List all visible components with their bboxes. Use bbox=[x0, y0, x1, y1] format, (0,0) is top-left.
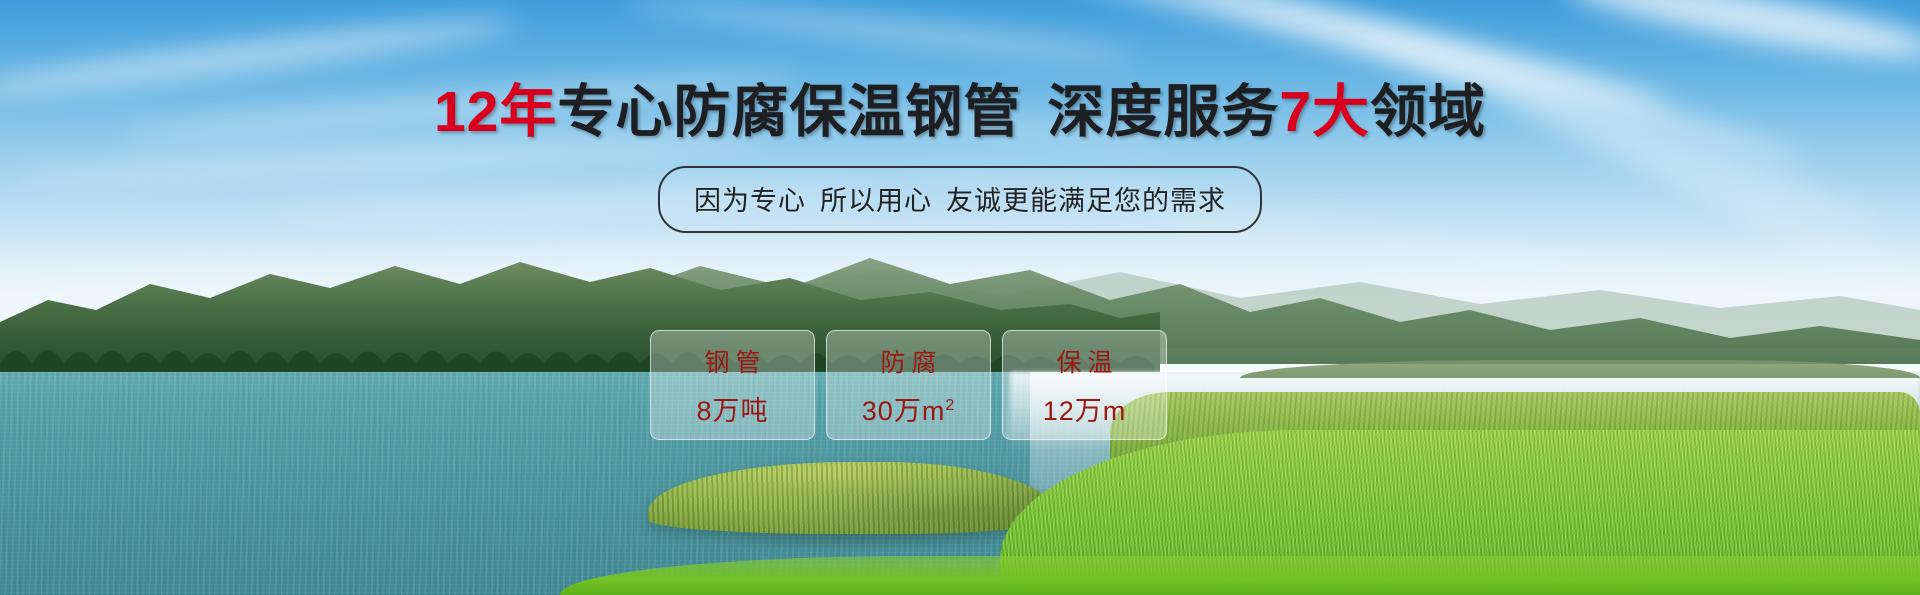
stat-card[interactable]: 保温 12万m bbox=[1002, 330, 1167, 440]
bottom-grass-strip bbox=[560, 556, 1920, 595]
stat-card-value: 8万吨 bbox=[696, 389, 768, 428]
stat-card[interactable]: 防腐 30万m2 bbox=[826, 330, 991, 440]
stat-card-label: 防腐 bbox=[874, 343, 942, 379]
cloud-wisp bbox=[620, 0, 1139, 67]
stat-card-group: 钢管 8万吨 防腐 30万m2 保温 12万m bbox=[650, 330, 1167, 440]
subtitle-text: 因为专心所以用心友诚更能满足您的需求 bbox=[694, 186, 1226, 216]
stat-card-value-text: 12万m bbox=[1043, 396, 1127, 426]
stat-card[interactable]: 钢管 8万吨 bbox=[650, 330, 815, 440]
headline-count: 7大 bbox=[1279, 80, 1370, 144]
stat-card-label: 保温 bbox=[1050, 343, 1118, 379]
banner-subtitle-pill: 因为专心所以用心友诚更能满足您的需求 bbox=[658, 166, 1262, 233]
stat-card-value: 12万m bbox=[1043, 389, 1127, 428]
subtitle-part-2: 所以用心 bbox=[820, 186, 932, 216]
stat-card-value-sup: 2 bbox=[945, 397, 955, 414]
headline-years: 12年 bbox=[434, 80, 557, 144]
headline-service: 深度服务 bbox=[1047, 80, 1279, 144]
subtitle-part-1: 因为专心 bbox=[694, 186, 806, 216]
headline-fields: 领域 bbox=[1370, 80, 1486, 144]
cloud-wisp bbox=[1559, 0, 1920, 73]
hero-banner: 12年专心防腐保温钢管深度服务7大领域 因为专心所以用心友诚更能满足您的需求 钢… bbox=[0, 0, 1920, 595]
headline-main: 专心防腐保温钢管 bbox=[557, 80, 1021, 144]
stat-card-value-text: 30万m bbox=[862, 396, 946, 426]
banner-headline: 12年专心防腐保温钢管深度服务7大领域 bbox=[0, 82, 1920, 144]
subtitle-part-3: 友诚更能满足您的需求 bbox=[946, 186, 1226, 216]
stat-card-value-text: 8万吨 bbox=[696, 396, 768, 426]
stat-card-label: 钢管 bbox=[698, 343, 766, 379]
stat-card-value: 30万m2 bbox=[862, 389, 955, 428]
